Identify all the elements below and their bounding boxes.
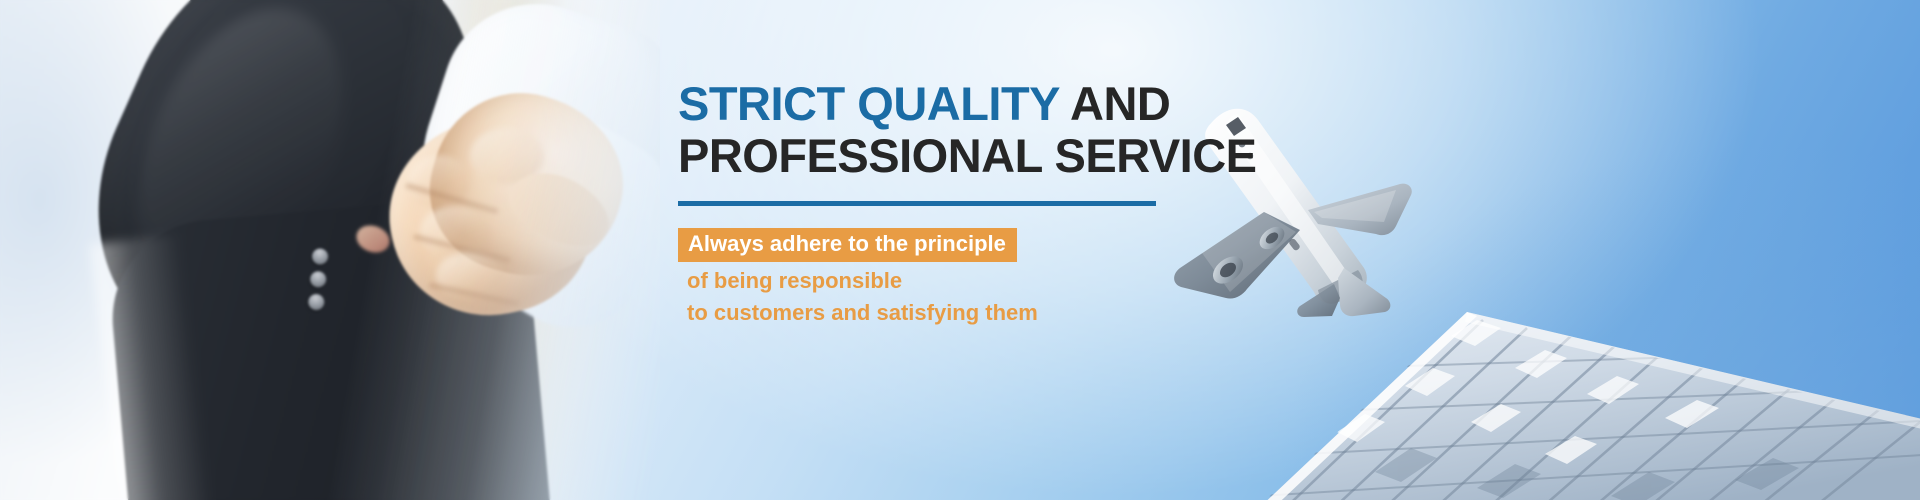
headline-line-2: PROFESSIONAL SERVICE — [678, 130, 1378, 182]
photo-blend-overlay — [0, 0, 660, 500]
handshake-photo — [0, 0, 660, 500]
hero-banner: STRICT QUALITY AND PROFESSIONAL SERVICE … — [0, 0, 1920, 500]
headline-rest: AND — [1059, 77, 1170, 130]
tagline-highlight: Always adhere to the principle — [678, 228, 1017, 262]
headline-divider — [678, 201, 1156, 206]
tagline-line-3: to customers and satisfying them — [678, 300, 1378, 326]
headline-accent: STRICT QUALITY — [678, 77, 1059, 130]
tagline-block: Always adhere to the principle of being … — [678, 228, 1378, 326]
headline-line-1: STRICT QUALITY AND — [678, 78, 1378, 130]
tagline-line-2: of being responsible — [678, 268, 1378, 294]
banner-copy: STRICT QUALITY AND PROFESSIONAL SERVICE … — [678, 78, 1378, 326]
